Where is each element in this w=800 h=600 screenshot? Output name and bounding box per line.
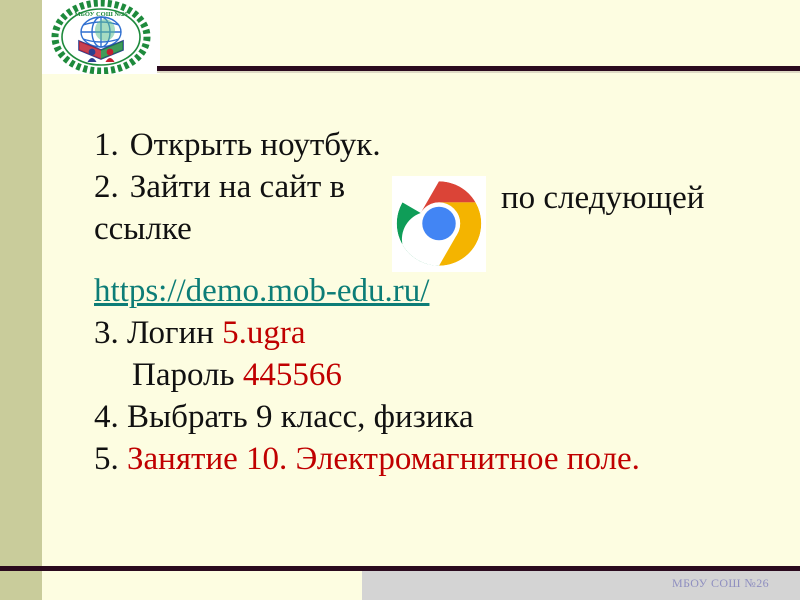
step-2-text-before-icon: Зайти на сайт в bbox=[130, 169, 345, 205]
footer-label: МБОУ СОШ №26 bbox=[672, 576, 769, 591]
step-5-number: 5. bbox=[94, 441, 119, 477]
step-2-text-wrap: ссылке bbox=[94, 211, 192, 247]
step-5: 5. Занятие 10. Электромагнитное поле. bbox=[94, 438, 784, 480]
step-2-number: 2. bbox=[94, 169, 119, 205]
step-3-password: Пароль 445566 bbox=[94, 354, 784, 396]
step-1-number: 1. bbox=[94, 127, 119, 163]
chrome-icon[interactable] bbox=[392, 176, 486, 272]
svg-text:МБОУ СОШ №26: МБОУ СОШ №26 bbox=[74, 11, 128, 18]
slide-canvas: МБОУ СОШ №26 1.Открыть ноутбук. 2.Зайти … bbox=[0, 0, 800, 600]
step-5-text: Занятие 10. Электромагнитное поле. bbox=[127, 441, 640, 477]
login-value: 5.ugra bbox=[222, 315, 305, 351]
step-3: 3. Логин 5.ugra bbox=[94, 312, 784, 354]
step-3-number: 3. bbox=[94, 315, 119, 351]
step-1: 1.Открыть ноутбук. bbox=[94, 124, 784, 166]
site-link-line: https://demo.mob-edu.ru/ bbox=[94, 270, 784, 312]
step-1-text: Открыть ноутбук. bbox=[130, 127, 381, 163]
step-4: 4. Выбрать 9 класс, физика bbox=[94, 396, 784, 438]
step-2-text-after-icon: по следующей bbox=[501, 177, 704, 219]
password-value: 445566 bbox=[243, 357, 342, 393]
school-logo: МБОУ СОШ №26 bbox=[42, 0, 160, 74]
step-4-number: 4. bbox=[94, 399, 119, 435]
site-link[interactable]: https://demo.mob-edu.ru/ bbox=[94, 273, 429, 309]
step-4-text: Выбрать 9 класс, физика bbox=[127, 399, 474, 435]
left-accent-band bbox=[0, 0, 42, 600]
header-divider bbox=[157, 66, 800, 73]
password-label: Пароль bbox=[132, 357, 235, 393]
chrome-icon-glyph bbox=[395, 179, 483, 268]
login-label: Логин bbox=[127, 315, 214, 351]
school-logo-icon: МБОУ СОШ №26 bbox=[42, 0, 160, 74]
